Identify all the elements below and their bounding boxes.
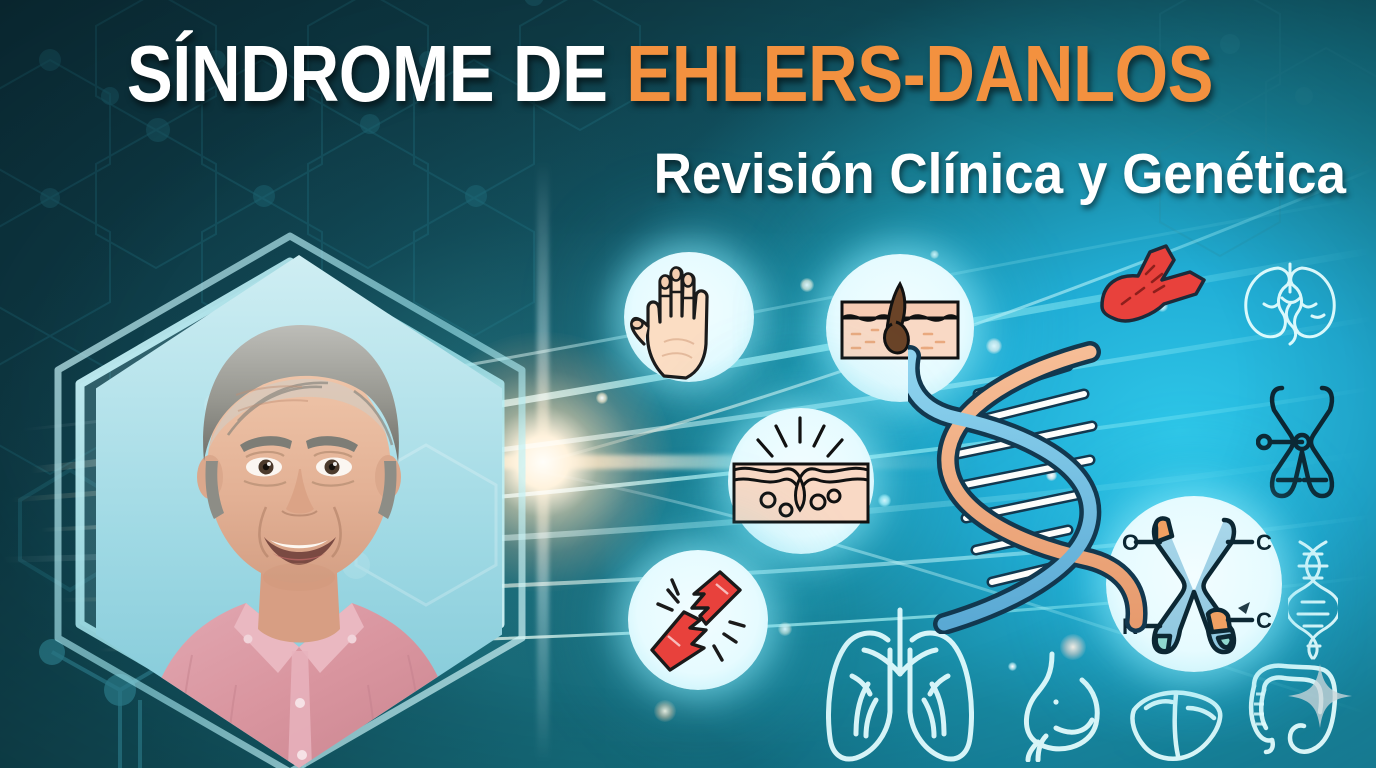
hyperflexible-hand-icon: [624, 252, 754, 382]
dna-helix-icon: [908, 338, 1154, 634]
subtitle: Revisión Clínica y Genética: [94, 146, 1346, 203]
stomach-outline-icon: [1016, 650, 1108, 762]
kidney-outline-icon: [1238, 258, 1342, 350]
title-white-part: SÍNDROME DE: [127, 29, 608, 118]
vessel-rupture-icon: [628, 550, 768, 690]
main-title-line: SÍNDROME DE EHLERS-DANLOS: [94, 34, 1246, 114]
thumbnail-canvas: O C R C SÍNDROME DE EHLERS-DANLOS Revisi…: [0, 0, 1376, 768]
artery-vessel-icon: [1092, 232, 1212, 342]
chromosome-outline-icon: [1256, 380, 1348, 502]
dna-strand-outline-icon: [1288, 538, 1338, 660]
skin-elasticity-icon: [728, 408, 874, 554]
chromosome-label-top-right: C: [1256, 530, 1272, 555]
chromosome-label-bottom-right: C: [1256, 608, 1272, 633]
liver-outline-icon: [1128, 688, 1226, 764]
sparkle-star-icon: [1288, 664, 1352, 728]
title-accent-part: EHLERS-DANLOS: [626, 29, 1213, 118]
